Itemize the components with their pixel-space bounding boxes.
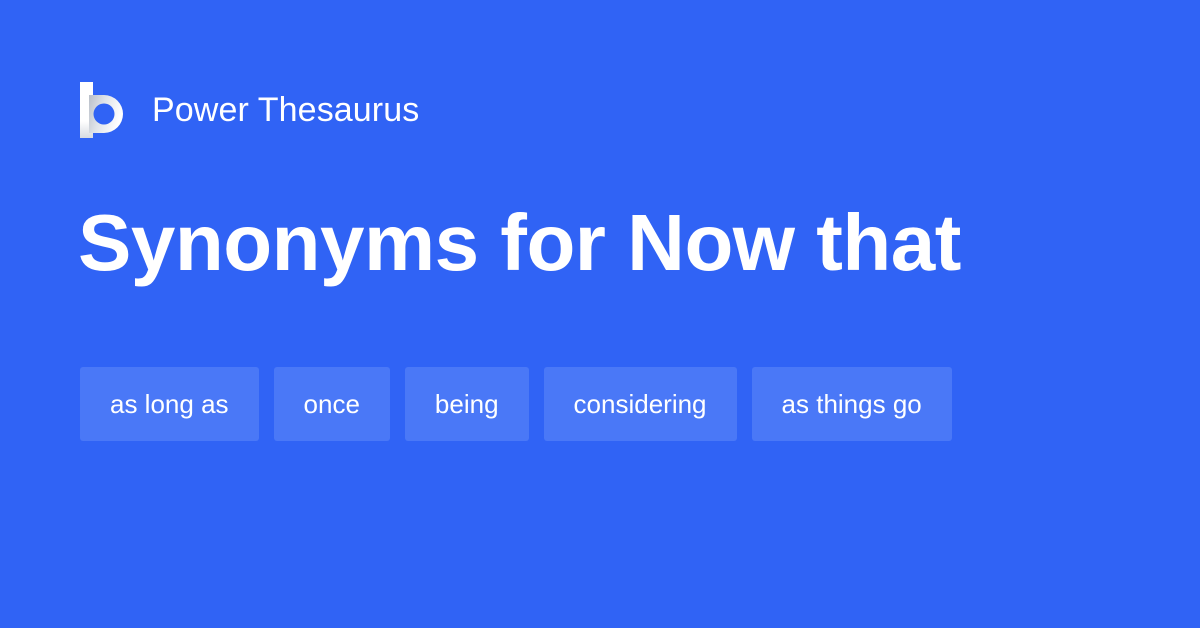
brand-header[interactable]: Power Thesaurus	[80, 80, 419, 140]
brand-name: Power Thesaurus	[152, 93, 419, 127]
power-thesaurus-b-logo-icon	[80, 82, 128, 138]
page-title: Synonyms for Now that	[78, 196, 961, 290]
synonym-chip[interactable]: once	[274, 367, 390, 441]
synonym-chip[interactable]: as long as	[80, 367, 259, 441]
synonym-chip[interactable]: as things go	[752, 367, 952, 441]
synonym-chip[interactable]: considering	[544, 367, 737, 441]
synonym-chip-list: as long as once being considering as thi…	[80, 367, 1120, 441]
og-card: Power Thesaurus Synonyms for Now that as…	[0, 0, 1200, 628]
synonym-chip[interactable]: being	[405, 367, 529, 441]
